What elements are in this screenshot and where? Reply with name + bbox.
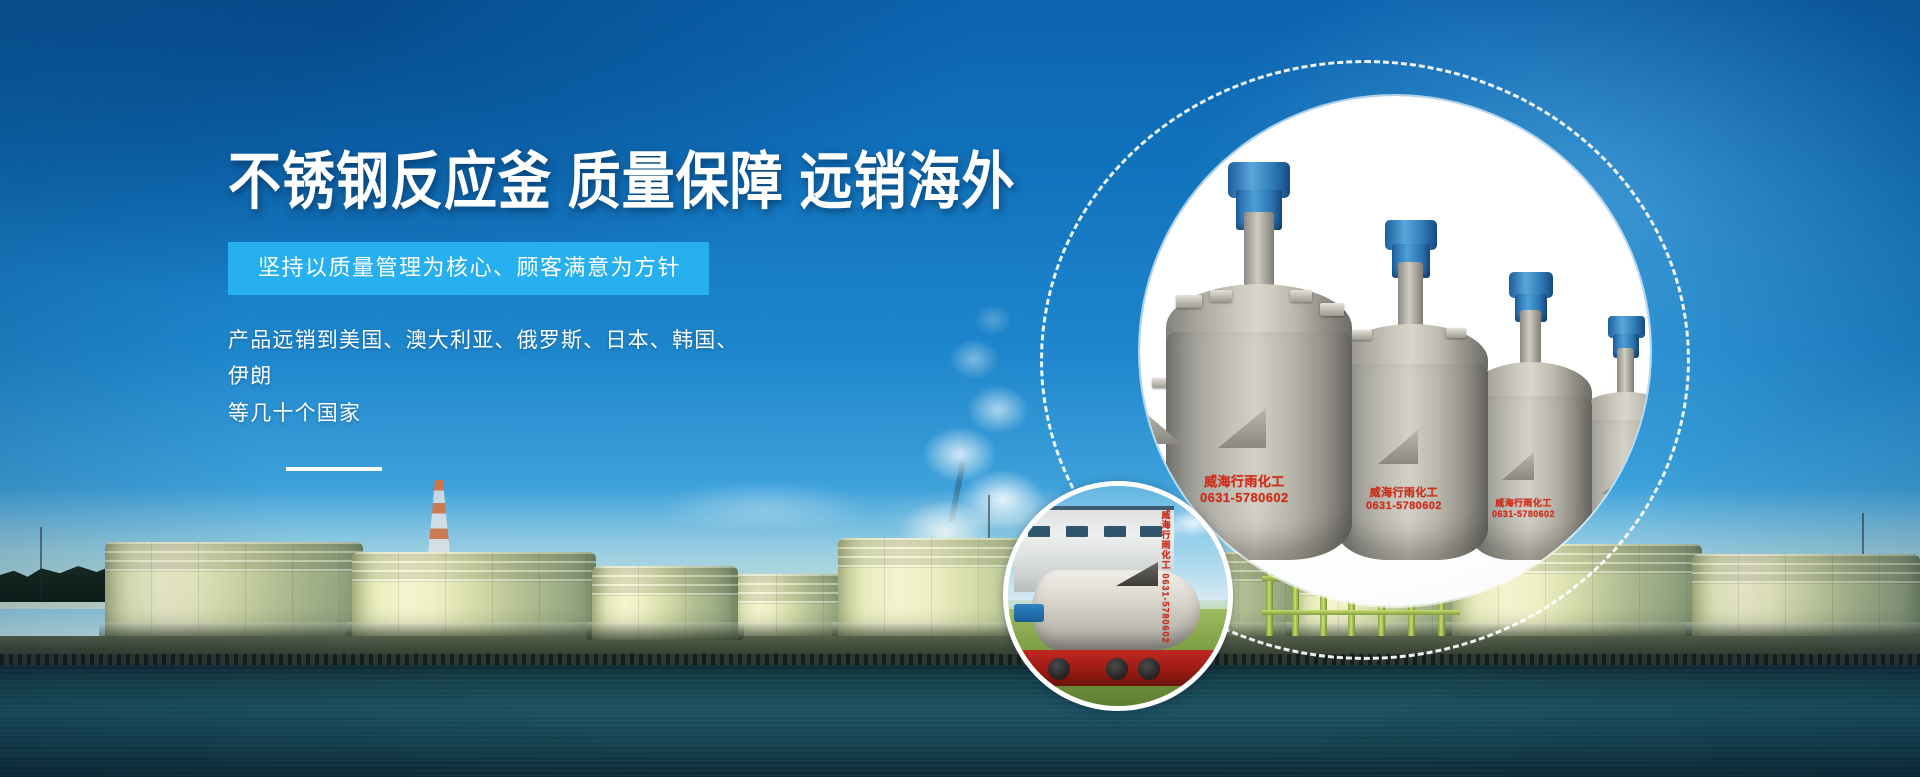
- pylon-mast-1: [40, 527, 42, 601]
- banner-subtitle-bar: 坚持以质量管理为核心、顾客满意为方针: [228, 242, 709, 295]
- flange-nozzle: [1320, 303, 1344, 316]
- truck-wheel: [1106, 658, 1128, 680]
- storage-tank: [352, 552, 596, 640]
- banner-headline: 不锈钢反应釜 质量保障 远销海外: [228, 150, 988, 216]
- inset-brand-text: 威海行雨化工: [1161, 510, 1171, 570]
- reactor-vessel: 威海行雨化工 0631-5780602: [1470, 288, 1592, 560]
- vessel-motor-icon: [1014, 604, 1044, 622]
- banner-description: 产品远销到美国、澳大利亚、俄罗斯、日本、韩国、伊朗 等几十个国家: [228, 323, 748, 433]
- reactor-brand-label: 威海行雨化工 0631-5780602: [1366, 487, 1442, 515]
- reactor-phone-text: 0631-5780602: [1366, 500, 1442, 512]
- reactor-phone-text: 0631-5780602: [1592, 516, 1648, 525]
- flange-nozzle: [1176, 295, 1202, 308]
- storage-tank: [105, 542, 363, 640]
- divider-rule: [286, 467, 382, 471]
- inset-photo-circle: 威海行雨化工 0631-5780602: [1003, 481, 1233, 711]
- hero-banner: 威海行雨化工 0631-5780602 威海行雨化工 0631-5780602: [0, 0, 1920, 777]
- reactor-brand-text: 威海行雨化工: [1370, 487, 1438, 499]
- reactor-brand-label: 威海行雨化工 0631-5780602: [1492, 498, 1555, 521]
- storage-tank: [592, 566, 738, 640]
- truck-wheel: [1138, 658, 1160, 680]
- reactor-brand-text: 威海行雨化工: [1495, 498, 1551, 508]
- truck-wheel: [1048, 658, 1070, 680]
- flange-nozzle: [1290, 290, 1312, 302]
- description-line-1: 产品远销到美国、澳大利亚、俄罗斯、日本、韩国、伊朗: [228, 323, 748, 397]
- water-shimmer: [0, 665, 1920, 777]
- reactor-vessel: 威海行雨化工 0631-5780602: [1336, 248, 1488, 560]
- banner-copy: 不锈钢反应釜 质量保障 远销海外 坚持以质量管理为核心、顾客满意为方针 产品远销…: [228, 150, 988, 471]
- inset-phone-text: 0631-5780602: [1161, 574, 1171, 644]
- flange-nozzle: [1352, 330, 1372, 340]
- storage-tank: [1692, 554, 1920, 640]
- inset-brand-label: 威海行雨化工 0631-5780602: [1158, 510, 1172, 644]
- reactor-phone-text: 0631-5780602: [1492, 509, 1555, 519]
- reactor-brand-label: 威海行雨化工 0631-5780602: [1592, 506, 1648, 526]
- reactor-brand-text: 威海行雨化工: [1595, 506, 1645, 515]
- flange-nozzle: [1446, 328, 1466, 338]
- transported-vessel: [1032, 570, 1200, 650]
- description-line-2: 等几十个国家: [228, 396, 748, 433]
- flange-nozzle: [1210, 290, 1232, 302]
- flatbed-truck: [1014, 650, 1230, 686]
